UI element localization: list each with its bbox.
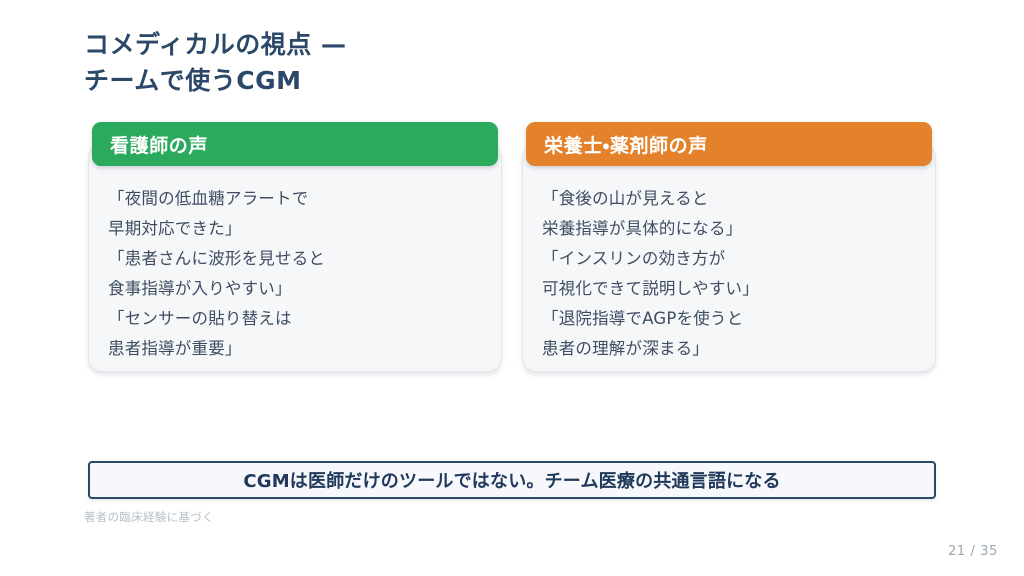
- slide-canvas: コメディカルの視点 — チームで使うCGM 看護師の声 「夜間の低血糖アラートで…: [0, 0, 1024, 576]
- card-dietitian-pharmacist-quotes: 「食後の山が見えると 栄養指導が具体的になる」 「インスリンの効き方が 可視化で…: [542, 184, 922, 364]
- card-nurses-header-label: 看護師の声: [110, 131, 208, 158]
- source-footnote: 著者の臨床経験に基づく: [84, 509, 214, 525]
- key-message-banner: CGMは医師だけのツールではない。チーム医療の共通言語になる: [88, 461, 936, 499]
- key-message-text: CGMは医師だけのツールではない。チーム医療の共通言語になる: [243, 467, 780, 493]
- page-number: 21 / 35: [948, 544, 998, 559]
- card-nurses: 看護師の声 「夜間の低血糖アラートで 早期対応できた」 「患者さんに波形を見せる…: [88, 122, 502, 372]
- card-nurses-quotes: 「夜間の低血糖アラートで 早期対応できた」 「患者さんに波形を見せると 食事指導…: [108, 184, 488, 364]
- card-dietitian-pharmacist: 栄養士・薬剤師の声 「食後の山が見えると 栄養指導が具体的になる」 「インスリン…: [522, 122, 936, 372]
- card-nurses-header: 看護師の声: [92, 122, 498, 166]
- page-title: コメディカルの視点 — チームで使うCGM: [84, 27, 784, 98]
- card-dietitian-pharmacist-header: 栄養士・薬剤師の声: [526, 122, 932, 166]
- card-dietitian-pharmacist-header-label: 栄養士・薬剤師の声: [544, 131, 708, 158]
